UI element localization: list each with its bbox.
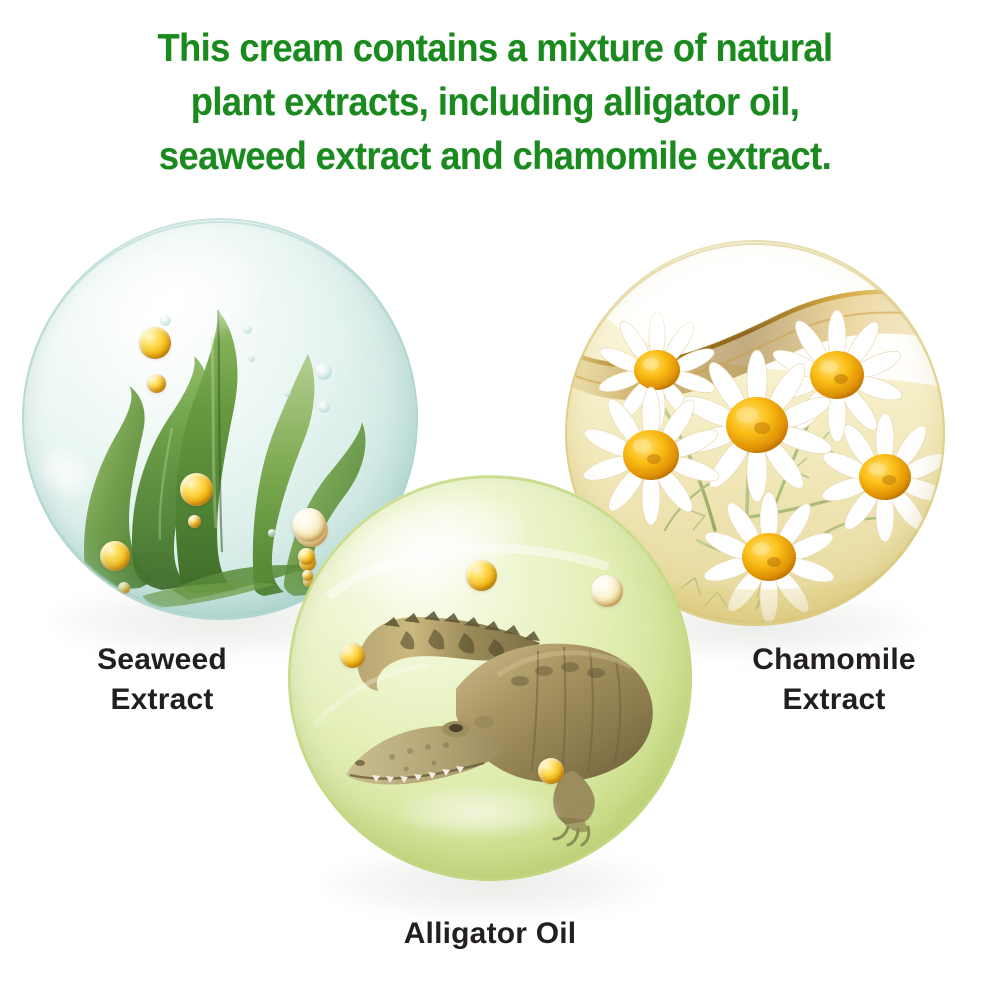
label-alligator: Alligator Oil <box>340 915 640 953</box>
water-bubble <box>248 355 255 362</box>
oil-bubble <box>302 570 313 581</box>
label-seaweed: Seaweed Extract <box>28 640 296 720</box>
water-bubble <box>318 401 330 413</box>
oil-bubble <box>340 643 365 668</box>
oil-bubble <box>591 575 623 607</box>
oil-bubble <box>139 327 171 359</box>
water-bubble <box>243 325 252 334</box>
alligator-contents-art <box>288 475 692 881</box>
infographic-canvas: This cream contains a mixture of natural… <box>0 0 990 989</box>
oil-bubble <box>466 560 497 591</box>
water-bubble <box>160 315 171 326</box>
sphere-alligator <box>288 475 692 881</box>
oil-bubble <box>298 548 315 565</box>
oil-bubble <box>100 541 130 571</box>
water-bubble <box>315 363 332 380</box>
label-chamomile: Chamomile Extract <box>700 640 968 720</box>
page-title: This cream contains a mixture of natural… <box>35 22 956 184</box>
water-bubble <box>268 529 276 537</box>
water-bubble <box>284 390 291 397</box>
oil-bubble <box>147 374 166 393</box>
oil-bubble <box>118 582 130 594</box>
oil-bubble <box>188 515 201 528</box>
oil-bubble <box>538 758 564 784</box>
oil-bubble <box>180 473 213 506</box>
oil-bubble <box>292 508 326 542</box>
